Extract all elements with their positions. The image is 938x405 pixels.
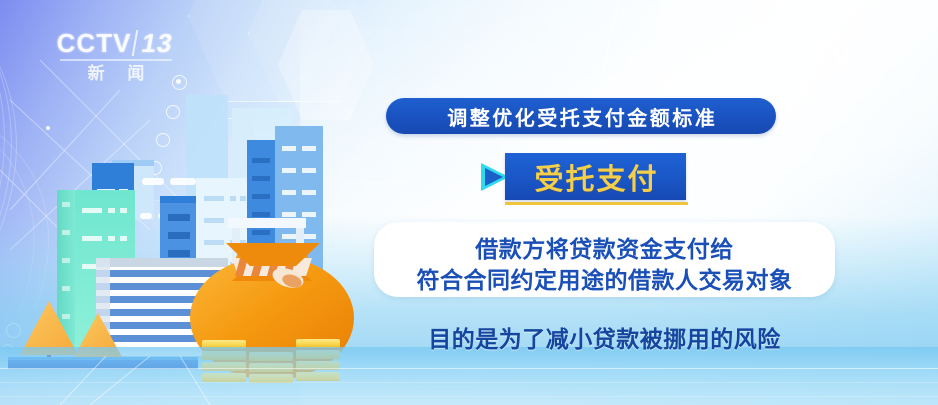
cctv-wordmark: CCTV (57, 28, 132, 58)
cctv-watermark: CCTV (762, 38, 854, 74)
definition-line-2: 符合合同约定用途的借款人交易对象 (374, 261, 835, 295)
definition-line-1: 借款方将贷款资金支付给 (374, 230, 835, 264)
news-graphic-stage: CCTV13 新 闻 CCTV 调整优化受托支付金额标准 受托支付 借款方将贷款… (0, 0, 938, 405)
cctv-channel-number: 13 (132, 30, 178, 56)
term-label: 受托支付 (532, 156, 658, 198)
headline-banner: 调整优化受托支付金额标准 (386, 98, 776, 134)
cctv-channel-logo: CCTV13 新 闻 (56, 30, 176, 82)
cctv-logo-underline (60, 59, 172, 61)
term-highlight-box: 受托支付 (505, 153, 686, 200)
term-underline (505, 202, 688, 205)
cctv-logo-subtitle: 新 闻 (56, 65, 176, 82)
definition-card: 借款方将贷款资金支付给 符合合同约定用途的借款人交易对象 (374, 222, 835, 297)
purpose-text: 目的是为了减小贷款被挪用的风险 (374, 320, 835, 354)
headline-banner-text: 调整优化受托支付金额标准 (445, 102, 718, 131)
cctv-logo-row1: CCTV13 (56, 30, 176, 56)
floor-perspective-lines (60, 356, 380, 405)
